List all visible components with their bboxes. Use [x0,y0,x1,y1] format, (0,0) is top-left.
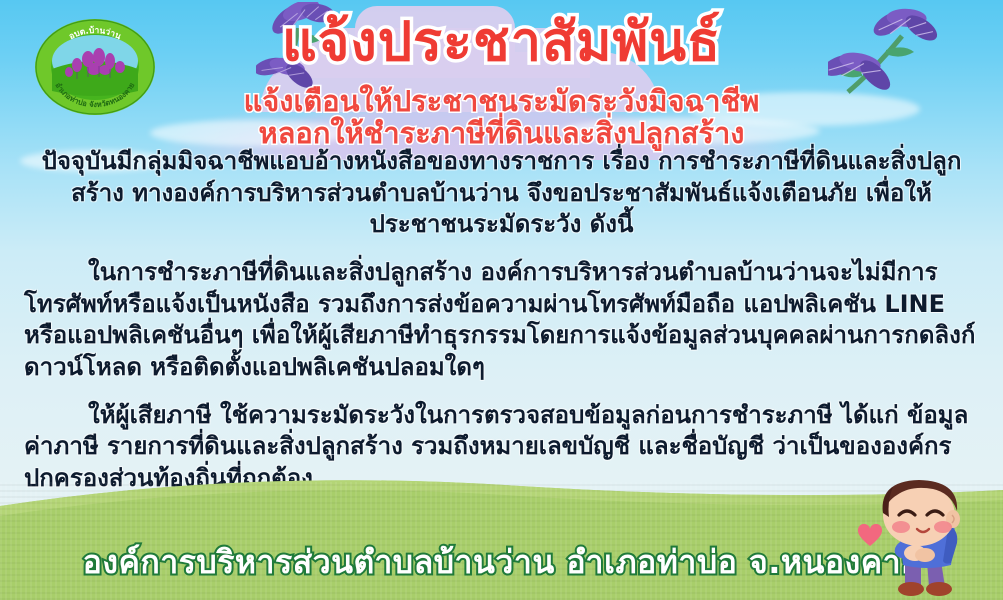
paragraph-1: ปัจจุบันมีกลุ่มมิจฉาชีพแอบอ้างหนังสือของ… [24,146,979,241]
announcement-body: ปัจจุบันมีกลุ่มมิจฉาชีพแอบอ้างหนังสือของ… [24,146,979,499]
bowing-boy-character [847,475,997,600]
poster-canvas: อบต.บ้านว่าน อำเภอท่าบ่อ จังหวัดหนองคาย [0,0,1003,600]
paragraph-2: ในการชำระภาษีที่ดินและสิ่งปลูกสร้าง องค์… [24,257,979,384]
page-title: แจ้งประชาสัมพันธ์ [0,14,1003,71]
subtitle-line-1: แจ้งเตือนให้ประชาชนระมัดระวังมิจฉาชีพ [0,85,1003,118]
